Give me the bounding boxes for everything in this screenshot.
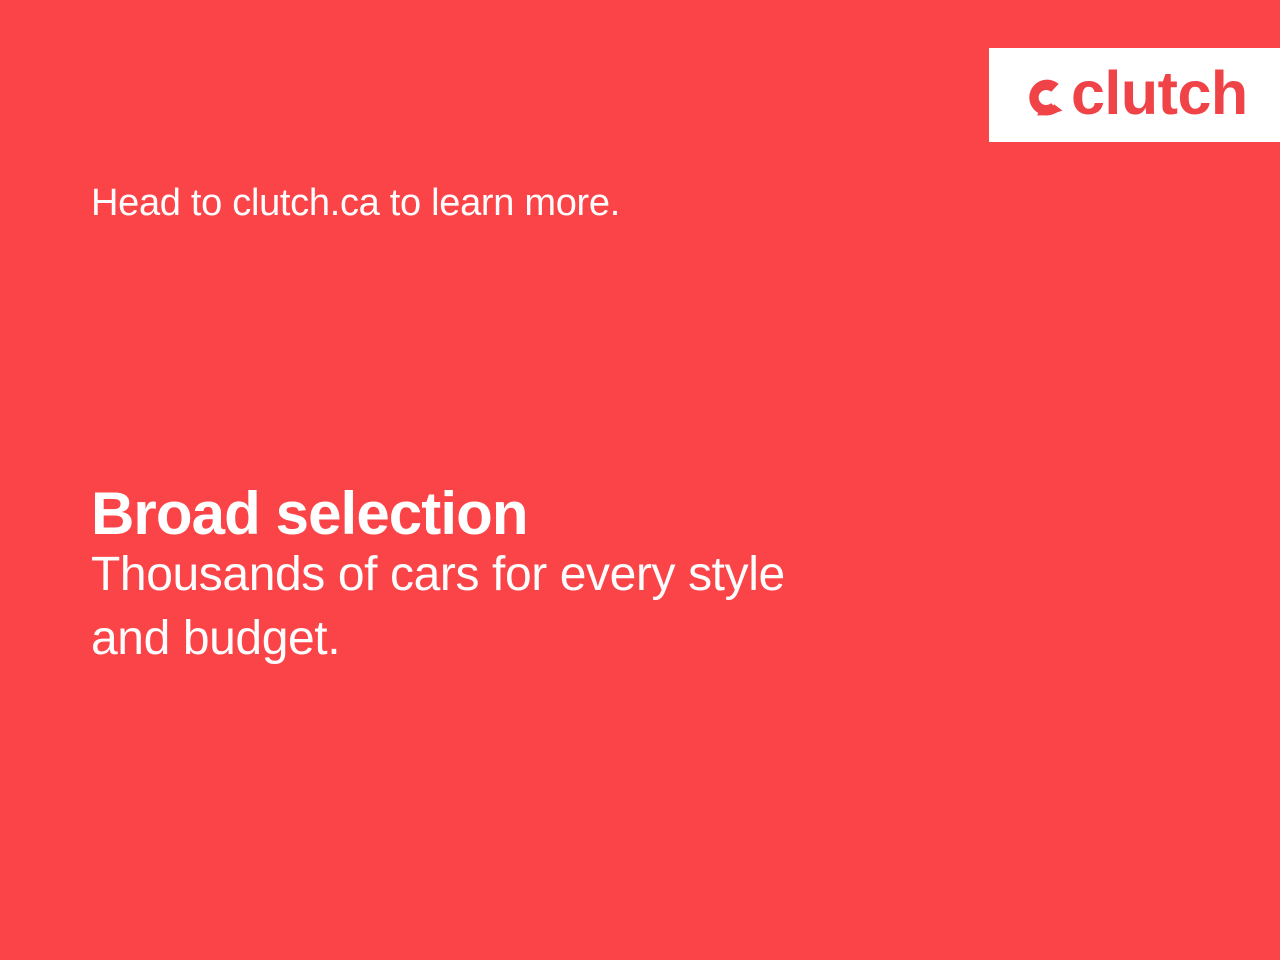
- clutch-wordmark: clutch: [1071, 63, 1248, 124]
- clutch-disc-icon: [1022, 74, 1069, 121]
- eyebrow-text: Head to clutch.ca to learn more.: [91, 181, 620, 226]
- logo-lockup: clutch: [1022, 66, 1248, 124]
- subhead-line: and budget.: [91, 607, 1051, 671]
- subhead-text: Thousands of cars for every style and bu…: [91, 543, 1051, 672]
- page-title: Broad selection: [91, 480, 528, 547]
- subhead-line: Thousands of cars for every style: [91, 543, 1051, 607]
- clutch-logo-badge[interactable]: clutch: [989, 48, 1280, 142]
- slide-canvas: clutch Head to clutch.ca to learn more. …: [0, 0, 1280, 960]
